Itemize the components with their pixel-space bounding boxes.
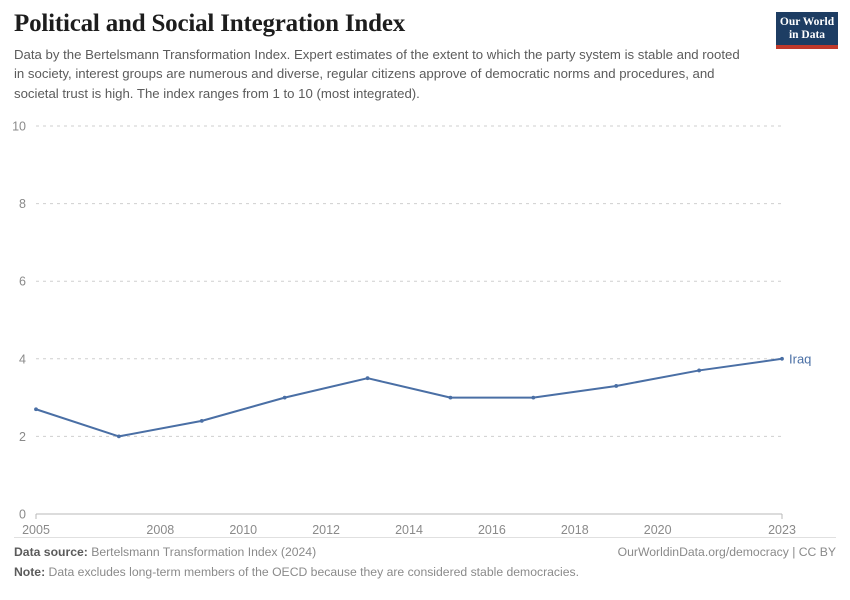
y-axis-tick-label: 0 (19, 508, 26, 522)
x-axis-tick-label: 2018 (561, 523, 589, 537)
chart-footer: Data source: Bertelsmann Transformation … (14, 545, 836, 579)
footer-note: Note: Data excludes long-term members of… (14, 565, 836, 579)
y-axis-tick-label: 4 (19, 352, 26, 366)
x-axis-tick-label: 2010 (229, 523, 257, 537)
x-axis-tick-label: 2012 (312, 523, 340, 537)
line-chart-svg: 0246810200520082010201220142016201820202… (0, 112, 850, 537)
x-axis-tick-label: 2008 (146, 523, 174, 537)
series-label-iraq: Iraq (789, 351, 811, 366)
data-point-marker[interactable] (34, 407, 38, 411)
data-point-marker[interactable] (117, 435, 121, 439)
footer-divider (14, 537, 836, 538)
data-point-marker[interactable] (283, 396, 287, 400)
x-axis-tick-label: 2005 (22, 523, 50, 537)
chart-subtitle: Data by the Bertelsmann Transformation I… (14, 45, 740, 104)
data-source-label: Data source: (14, 545, 88, 559)
x-axis-tick-label: 2014 (395, 523, 423, 537)
chart-plot-area: 0246810200520082010201220142016201820202… (0, 112, 850, 537)
footer-note-value: Data excludes long-term members of the O… (49, 565, 579, 579)
data-source-value: Bertelsmann Transformation Index (2024) (91, 545, 316, 559)
x-axis-tick-label: 2020 (644, 523, 672, 537)
data-point-marker[interactable] (449, 396, 453, 400)
logo-line-2: in Data (778, 29, 836, 42)
y-axis-tick-label: 6 (19, 275, 26, 289)
attribution-link[interactable]: OurWorldinData.org/democracy | CC BY (618, 545, 836, 559)
data-point-marker[interactable] (780, 357, 784, 361)
data-point-marker[interactable] (614, 384, 618, 388)
x-axis-tick-label: 2016 (478, 523, 506, 537)
page-title: Political and Social Integration Index (14, 10, 754, 39)
data-point-marker[interactable] (531, 396, 535, 400)
series-line[interactable] (36, 359, 782, 437)
x-axis-tick-label: 2023 (768, 523, 796, 537)
y-axis-tick-label: 10 (12, 120, 26, 134)
data-point-marker[interactable] (200, 419, 204, 423)
data-source: Data source: Bertelsmann Transformation … (14, 545, 316, 559)
footer-note-label: Note: (14, 565, 45, 579)
data-point-marker[interactable] (697, 369, 701, 373)
y-axis-tick-label: 8 (19, 197, 26, 211)
data-point-marker[interactable] (366, 376, 370, 380)
chart-header: Political and Social Integration Index D… (14, 10, 754, 103)
y-axis-tick-label: 2 (19, 430, 26, 444)
our-world-in-data-logo[interactable]: Our World in Data (776, 12, 838, 49)
logo-line-1: Our World (778, 16, 836, 29)
chart-page: Political and Social Integration Index D… (0, 0, 850, 600)
